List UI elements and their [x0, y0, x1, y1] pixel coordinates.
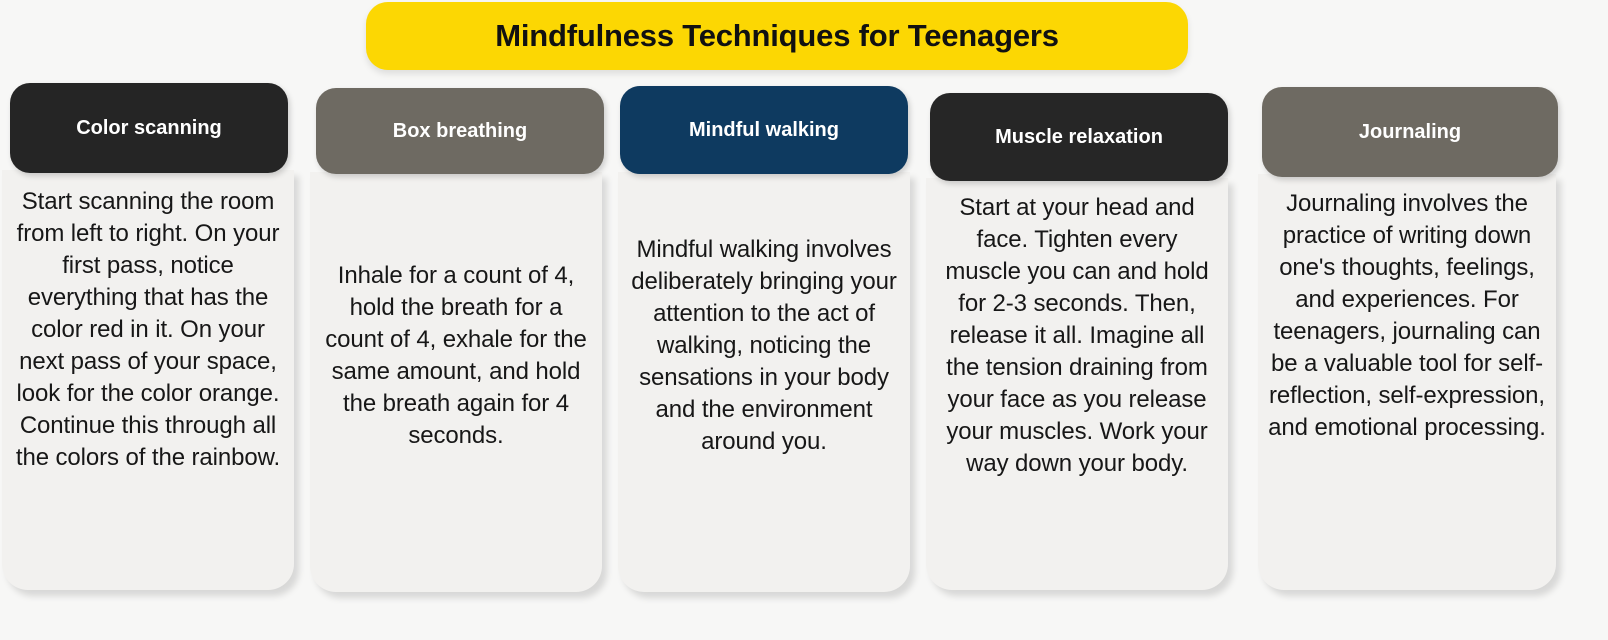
card-description: Mindful walking involves deliberately br…: [630, 234, 898, 458]
card-description: Inhale for a count of 4, hold the breath…: [322, 260, 590, 452]
technique-card-list: Color scanning Start scanning the room f…: [0, 0, 1608, 640]
card-heading: Color scanning: [76, 117, 222, 140]
card-heading: Journaling: [1359, 121, 1461, 144]
card-description: Journaling involves the practice of writ…: [1268, 188, 1546, 444]
card-body-box-breathing: Inhale for a count of 4, hold the breath…: [310, 172, 602, 592]
card-body-mindful-walking: Mindful walking involves deliberately br…: [618, 172, 910, 592]
card-description: Start at your head and face. Tighten eve…: [938, 192, 1216, 480]
card-header-journaling[interactable]: Journaling: [1262, 87, 1558, 177]
card-heading: Muscle relaxation: [995, 126, 1163, 149]
card-body-muscle-relaxation: Start at your head and face. Tighten eve…: [926, 178, 1228, 590]
card-heading: Mindful walking: [689, 119, 839, 142]
card-header-muscle-relaxation[interactable]: Muscle relaxation: [930, 93, 1228, 181]
card-heading: Box breathing: [393, 120, 527, 143]
card-body-color-scanning: Start scanning the room from left to rig…: [2, 170, 294, 590]
card-header-box-breathing[interactable]: Box breathing: [316, 88, 604, 174]
card-description: Start scanning the room from left to rig…: [14, 186, 282, 474]
card-header-mindful-walking[interactable]: Mindful walking: [620, 86, 908, 174]
card-header-color-scanning[interactable]: Color scanning: [10, 83, 288, 173]
card-body-journaling: Journaling involves the practice of writ…: [1258, 174, 1556, 590]
